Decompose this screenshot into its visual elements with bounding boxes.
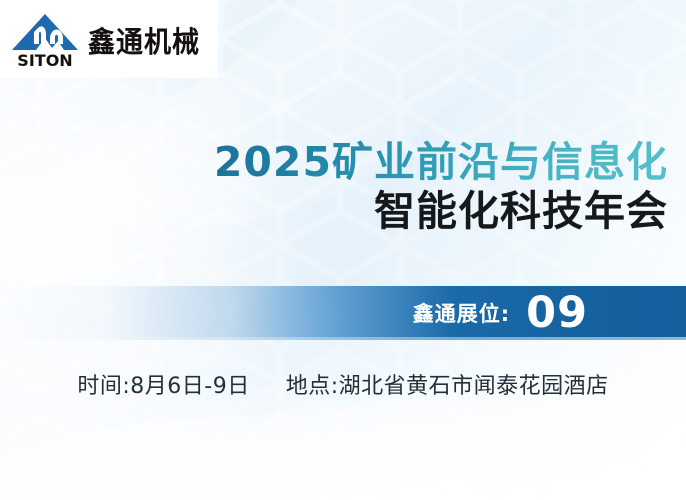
event-meta: 时间:8月6日-9日 地点:湖北省黄石市闻泰花园酒店 (0, 368, 686, 400)
siton-mountain-icon: SITON (8, 10, 82, 68)
booth-banner: 鑫通展位: 09 (0, 286, 686, 340)
page-title: 2025矿业前沿与信息化 智能化科技年会 (0, 138, 668, 236)
title-line-2: 智能化科技年会 (0, 186, 668, 236)
brand-chinese-name: 鑫通机械 (88, 18, 200, 60)
conference-poster: SITON 鑫通机械 2025矿业前沿与信息化 智能化科技年会 鑫通展位: 09… (0, 0, 686, 500)
booth-number: 09 (526, 292, 588, 335)
event-date: 时间:8月6日-9日 (77, 368, 249, 400)
brand-logo: SITON 鑫通机械 (0, 0, 218, 78)
title-line-1: 2025矿业前沿与信息化 (0, 138, 668, 186)
booth-label: 鑫通展位: (413, 298, 510, 328)
siton-wordmark: SITON (17, 51, 72, 68)
event-venue: 地点:湖北省黄石市闻泰花园酒店 (286, 368, 609, 400)
